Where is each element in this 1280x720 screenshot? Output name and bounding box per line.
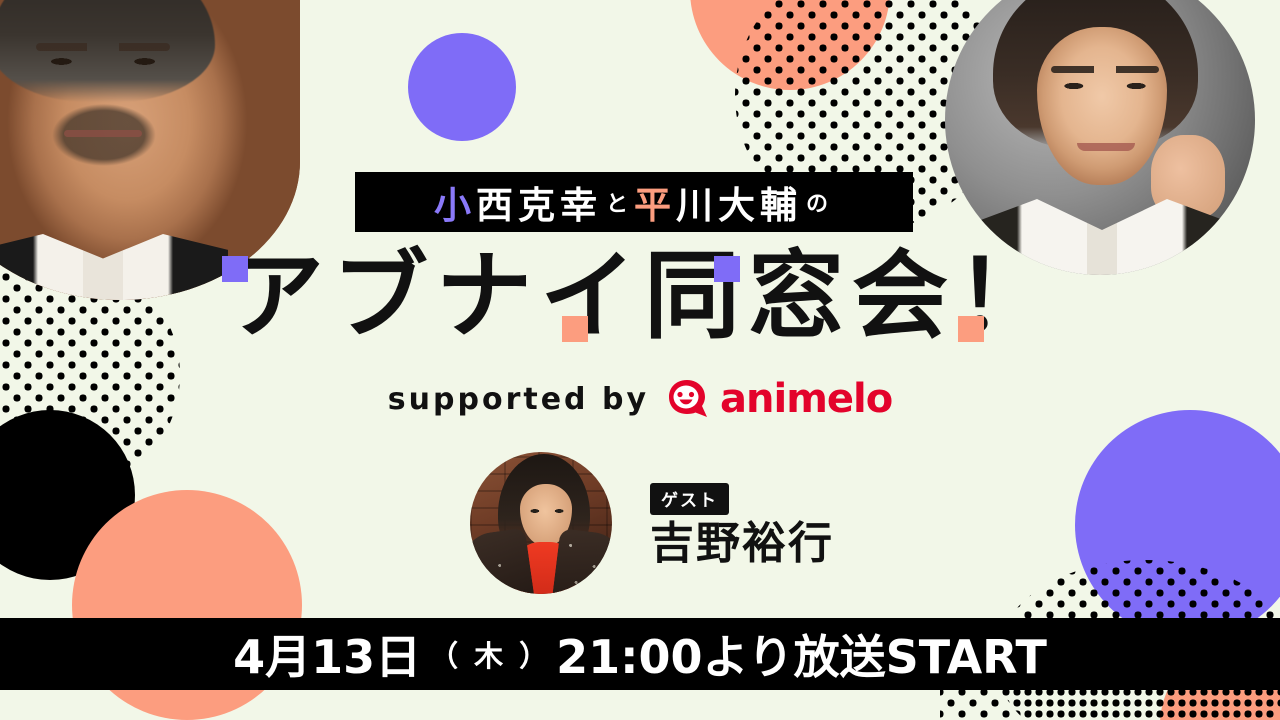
guest-photo [470,452,612,594]
eyes-shape [528,508,566,514]
promo-banner: 小 西 克 幸 と 平 川 大 輔 の ア ブ ナ イ 同 窓 会 ！ supp… [0,0,1280,720]
broadcast-time-and-text: 21:00より放送START [556,621,1047,687]
accent-block-purple [222,256,248,282]
host-name-char: 小 [434,175,476,229]
broadcast-date: 4月13日 [233,621,421,687]
animelo-speech-bubble-icon [667,379,711,419]
host-name-char: 大 [718,175,760,229]
title-char: ブ [328,248,432,344]
eyes-shape [1053,81,1157,91]
jacket-left [470,528,535,594]
title-char: 窓 [744,248,848,344]
eyes-shape [38,56,168,67]
accent-block-purple [714,256,740,282]
particle-no: の [802,186,834,218]
guest-info: ゲスト 吉野裕行 [650,483,834,567]
host-name-char: 幸 [560,175,602,229]
title-char: 会 [848,248,952,344]
title-char: ナ [432,248,536,344]
purple-circle-top [408,33,516,141]
conjunction-to: と [602,186,634,218]
guest-portrait [470,452,612,594]
sponsor-row: supported by animelo [0,376,1280,422]
jacket-right [552,528,612,594]
guest-name: 吉野裕行 [650,521,834,567]
face-shape [1037,27,1167,185]
mouth-shape [64,130,142,137]
host-name-char: 輔 [760,175,802,229]
brows-shape [1051,66,1159,73]
host-right-portrait [945,0,1255,275]
title-char: ！ [952,248,1056,344]
supported-by-label: supported by [388,382,649,417]
accent-block-coral [958,316,984,342]
hosts-name-bar: 小 西 克 幸 と 平 川 大 輔 の [355,172,913,232]
host-name-char: 川 [676,175,718,229]
hair-shape [0,0,215,102]
weekday-paren-close: ） [511,633,556,675]
accent-block-coral [562,316,588,342]
host-right-photo [945,0,1255,275]
host-name-char: 西 [476,175,518,229]
broadcast-weekday: 木 [466,633,511,675]
mouth-shape [1077,143,1135,151]
title-char: ア [224,248,328,344]
beard-shape [36,100,172,176]
brows-shape [36,43,170,51]
animelo-logo: animelo [667,376,892,422]
broadcast-banner: 4月13日 （ 木 ） 21:00より放送START [0,618,1280,690]
host-name-char: 平 [634,175,676,229]
title-char: イ [536,248,640,344]
weekday-paren-open: （ [421,633,466,675]
title-char: 同 [640,248,744,344]
guest-badge: ゲスト [650,483,729,515]
animelo-wordmark: animelo [720,376,892,422]
host-name-char: 克 [518,175,560,229]
page-title: ア ブ ナ イ 同 窓 会 ！ [0,248,1280,344]
